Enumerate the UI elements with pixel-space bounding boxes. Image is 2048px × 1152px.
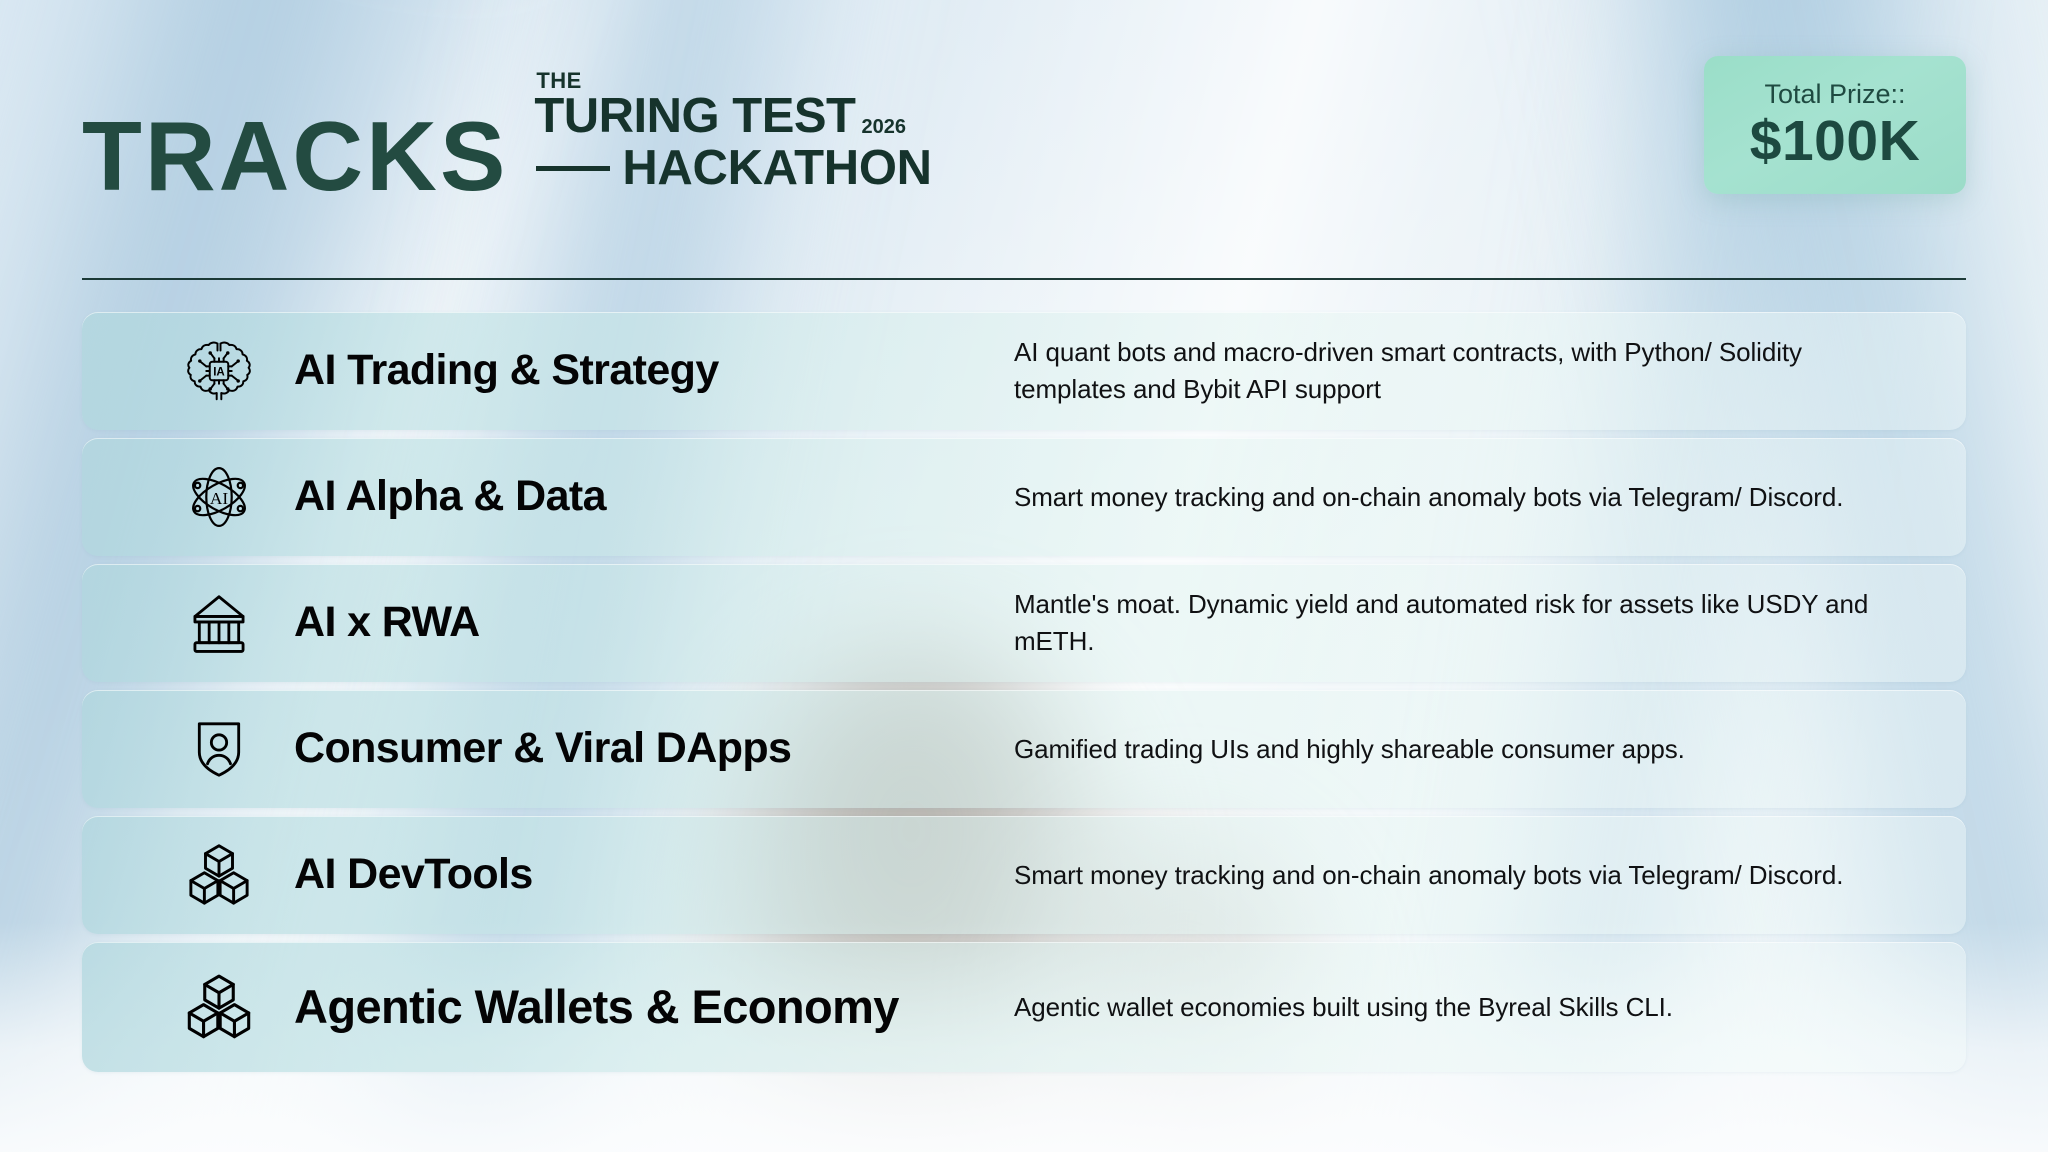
track-description: Agentic wallet economies built using the… [1014, 989, 1673, 1026]
track-row[interactable]: IA AI Trading & Strategy AI quant bots a… [82, 312, 1966, 430]
track-name: Consumer & Viral DApps [294, 726, 1014, 771]
logo-hackathon-label: HACKATHON [622, 144, 931, 193]
logo-line-one: THE TURING TEST 2026 [534, 92, 931, 141]
brain-chip-icon: IA [144, 334, 294, 408]
track-name: Agentic Wallets & Economy [294, 982, 1014, 1031]
total-prize-label: Total Prize:: [1764, 79, 1905, 110]
logo-line-two: HACKATHON [534, 144, 931, 193]
svg-text:IA: IA [213, 367, 225, 379]
track-name: AI Alpha & Data [294, 474, 1014, 519]
total-prize-badge: Total Prize:: $100K [1704, 56, 1966, 194]
title-block: TRACKS THE TURING TEST 2026 HACKATHON [82, 92, 932, 199]
tracks-list: IA AI Trading & Strategy AI quant bots a… [82, 312, 1966, 1080]
atom-ai-icon: AI [144, 460, 294, 534]
svg-text:AI: AI [210, 489, 229, 508]
page-title: TRACKS [82, 113, 508, 199]
track-row[interactable]: Consumer & Viral DApps Gamified trading … [82, 690, 1966, 808]
turing-test-hackathon-logo: THE TURING TEST 2026 HACKATHON [534, 92, 931, 199]
track-row[interactable]: AI x RWA Mantle's moat. Dynamic yield an… [82, 564, 1966, 682]
track-name: AI DevTools [294, 852, 1014, 897]
cubes-stack-icon [144, 839, 294, 911]
slide-canvas: TRACKS THE TURING TEST 2026 HACKATHON To… [0, 0, 2048, 1152]
track-row[interactable]: Agentic Wallets & Economy Agentic wallet… [82, 942, 1966, 1072]
logo-year-label: 2026 [862, 117, 907, 141]
total-prize-value: $100K [1750, 112, 1920, 172]
track-description: Mantle's moat. Dynamic yield and automat… [1014, 586, 1894, 660]
track-description: AI quant bots and macro-driven smart con… [1014, 334, 1894, 408]
track-description: Smart money tracking and on-chain anomal… [1014, 479, 1843, 516]
header-divider [82, 278, 1966, 280]
track-name: AI x RWA [294, 600, 1014, 645]
shield-user-icon [144, 714, 294, 784]
cubes-stack-icon [144, 969, 294, 1045]
track-row[interactable]: AI AI Alpha & Data Smart money tracking … [82, 438, 1966, 556]
logo-turing-test-label: TURING TEST [534, 92, 855, 141]
slide-header: TRACKS THE TURING TEST 2026 HACKATHON To… [0, 0, 2048, 290]
track-name: AI Trading & Strategy [294, 348, 1014, 393]
logo-rule-divider [536, 166, 610, 171]
track-description: Smart money tracking and on-chain anomal… [1014, 857, 1843, 894]
track-description: Gamified trading UIs and highly shareabl… [1014, 731, 1685, 768]
bank-building-icon [144, 588, 294, 658]
track-row[interactable]: AI DevTools Smart money tracking and on-… [82, 816, 1966, 934]
logo-the-label: THE [536, 70, 582, 92]
